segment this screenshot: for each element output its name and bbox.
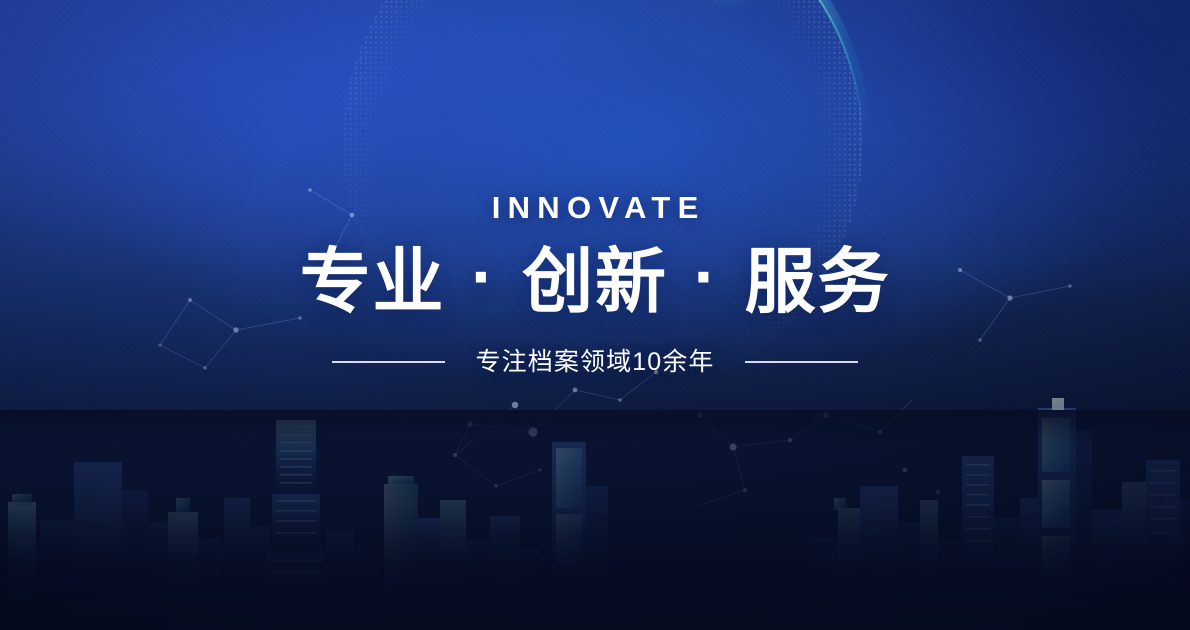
banner-content: INNOVATE 专业 · 创新 · 服务 专注档案领域10余年 <box>0 192 1190 375</box>
page-title: 专业 · 创新 · 服务 <box>0 245 1190 322</box>
subtitle-text: 专注档案领域10余年 <box>475 350 714 375</box>
subtitle-rule-right <box>745 361 858 363</box>
headline-word-1: 专业 <box>300 243 446 322</box>
subtitle-row: 专注档案领域10余年 <box>0 350 1190 375</box>
headline-separator-1: · <box>467 240 501 317</box>
headline-word-2: 创新 <box>522 243 668 322</box>
eyebrow-text: INNOVATE <box>0 192 1190 223</box>
headline-separator-2: · <box>689 240 723 317</box>
hero-banner: INNOVATE 专业 · 创新 · 服务 专注档案领域10余年 <box>0 0 1190 630</box>
subtitle-rule-left <box>332 361 445 363</box>
headline-word-3: 服务 <box>745 243 891 322</box>
